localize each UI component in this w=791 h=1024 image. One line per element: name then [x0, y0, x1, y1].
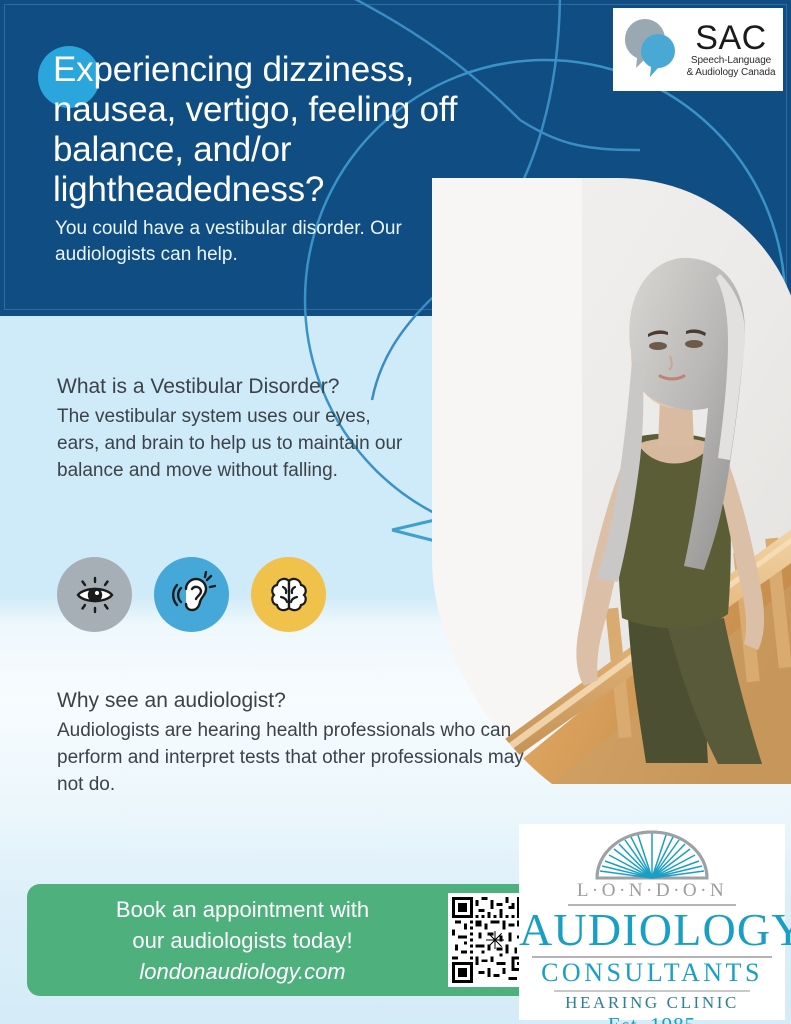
logo-established: Est. 1985 — [519, 1013, 785, 1024]
logo-consultants: CONSULTANTS — [519, 958, 785, 988]
sunburst-arch-icon — [593, 828, 711, 882]
cta-line-1: Book an appointment with — [37, 894, 448, 925]
cta-banner[interactable]: Book an appointment with our audiologist… — [27, 884, 556, 996]
section-body-why: Audiologists are hearing health professi… — [57, 717, 527, 798]
london-audiology-consultants-logo: L·O·N·D·O·N AUDIOLOGY CONSULTANTS HEARIN… — [519, 824, 785, 1020]
sac-text-group: SAC Speech-Language & Audiology Canada — [683, 21, 783, 79]
logo-audiology: AUDIOLOGY — [519, 906, 785, 954]
cta-website-url[interactable]: londonaudiology.com — [37, 956, 448, 987]
ear-icon — [154, 557, 229, 632]
vestibular-disorder-poster: Experiencing dizziness, nausea, vertigo,… — [0, 0, 791, 1024]
sac-title: SAC — [683, 21, 779, 55]
eye-icon — [57, 557, 132, 632]
section-heading-what: What is a Vestibular Disorder? — [57, 373, 407, 401]
cta-text-group: Book an appointment with our audiologist… — [27, 894, 448, 987]
speech-bubbles-mark — [617, 15, 683, 85]
section-what-is-vestibular-disorder: What is a Vestibular Disorder? The vesti… — [57, 373, 407, 484]
logo-london: L·O·N·D·O·N — [519, 880, 785, 902]
header-text-group: Experiencing dizziness, nausea, vertigo,… — [53, 50, 523, 268]
section-body-what: The vestibular system uses our eyes, ear… — [57, 403, 407, 484]
section-heading-why: Why see an audiologist? — [57, 687, 527, 715]
cta-line-2: our audiologists today! — [37, 925, 448, 956]
brain-icon — [251, 557, 326, 632]
sac-logo: SAC Speech-Language & Audiology Canada — [613, 8, 783, 91]
subheadline: You could have a vestibular disorder. Ou… — [55, 216, 495, 268]
headline: Experiencing dizziness, nausea, vertigo,… — [53, 50, 523, 210]
section-why-see-audiologist: Why see an audiologist? Audiologists are… — [57, 687, 527, 798]
sac-subtitle-line2: & Audiology Canada — [683, 67, 779, 79]
sac-subtitle-line1: Speech-Language — [683, 55, 779, 67]
logo-hearing-clinic: HEARING CLINIC — [519, 992, 785, 1013]
icon-row — [57, 557, 326, 632]
